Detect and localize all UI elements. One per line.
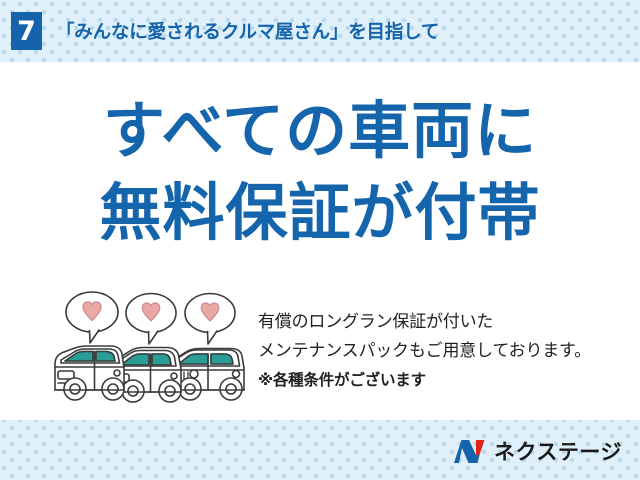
promotional-banner: 7 「みんなに愛されるクルマ屋さん」を目指して すべての車両に 無料保証が付帯 [0, 0, 640, 480]
car-kei-van [55, 346, 124, 400]
content-card: すべての車両に 無料保証が付帯 [0, 62, 640, 420]
brand-logo: ネクステージ [453, 436, 622, 466]
three-cars-with-hearts-illustration [45, 290, 260, 408]
brand-name: ネクステージ [494, 436, 622, 466]
headline-line-2: 無料保証が付帯 [0, 172, 640, 254]
headline-line-1: すべての車両に [0, 90, 640, 172]
body-text-block: 有償のロングラン保証が付いた メンテナンスパックもご用意しております。 ※各種条… [258, 308, 630, 394]
body-text-note: ※各種条件がございます [258, 366, 630, 394]
body-text-line-2: メンテナンスパックもご用意しております。 [258, 337, 630, 366]
body-text-line-1: 有償のロングラン保証が付いた [258, 308, 630, 337]
headline: すべての車両に 無料保証が付帯 [0, 90, 640, 254]
lower-section: 有償のロングラン保証が付いた メンテナンスパックもご用意しております。 ※各種条… [0, 290, 640, 420]
header-title: 「みんなに愛されるクルマ屋さん」を目指して [56, 18, 439, 44]
banner-header: 7 「みんなに愛されるクルマ屋さん」を目指して [0, 0, 640, 62]
section-number-badge: 7 [11, 12, 42, 50]
nextage-n-logo-icon [453, 439, 487, 464]
